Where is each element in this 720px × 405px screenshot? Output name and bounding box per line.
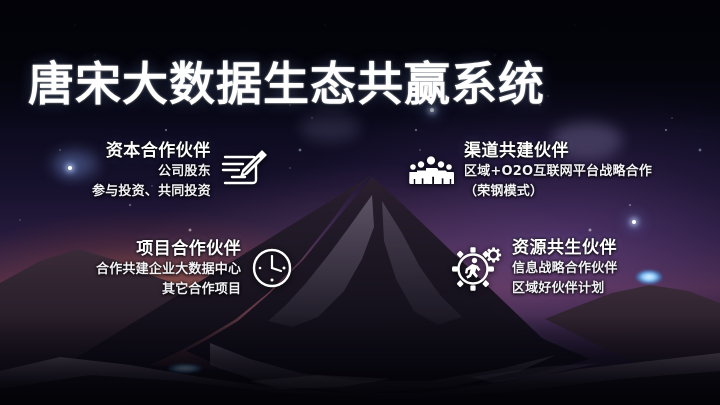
partner-detail-line: 其它合作项目 [162, 280, 241, 299]
partner-text-group: 项目合作伙伴 合作共建企业大数据中心 其它合作项目 [96, 238, 241, 299]
partner-detail-line: 区域好伙伴计划 [512, 279, 604, 298]
partner-block-channel[interactable]: 渠道共建伙伴 区域+O2O互联网平台战略合作 （荣钢模式） [408, 140, 652, 201]
partner-detail-line: 合作共建企业大数据中心 [96, 260, 241, 279]
partner-detail-line: 公司股东 [158, 162, 211, 181]
gear-person-icon [452, 243, 502, 291]
partner-detail-line: 区域+O2O互联网平台战略合作 [464, 162, 652, 181]
partner-title: 资源共生伙伴 [512, 237, 617, 259]
people-group-icon [408, 153, 454, 187]
presentation-slide: 唐宋大数据生态共赢系统 资本合作伙伴 公司股东 参与投资、共同投资 [0, 0, 720, 405]
partner-detail-line: （荣钢模式） [464, 182, 543, 201]
partner-text-group: 资源共生伙伴 信息战略合作伙伴 区域好伙伴计划 [512, 237, 618, 298]
partner-detail-line: 参与投资、共同投资 [92, 182, 211, 201]
contract-signing-icon [221, 148, 267, 192]
clock-icon [251, 247, 293, 289]
valley-light-glow [168, 364, 202, 373]
partner-text-group: 渠道共建伙伴 区域+O2O互联网平台战略合作 （荣钢模式） [464, 140, 652, 201]
partner-block-capital[interactable]: 资本合作伙伴 公司股东 参与投资、共同投资 [92, 140, 267, 201]
partner-title: 渠道共建伙伴 [464, 140, 569, 162]
partner-title: 资本合作伙伴 [106, 140, 211, 162]
partner-title: 项目合作伙伴 [136, 238, 241, 260]
bright-star-left [68, 166, 72, 170]
partner-detail-line: 信息战略合作伙伴 [512, 259, 618, 278]
page-title: 唐宋大数据生态共赢系统 [28, 57, 545, 111]
partner-block-project[interactable]: 项目合作伙伴 合作共建企业大数据中心 其它合作项目 [96, 238, 293, 299]
partner-text-group: 资本合作伙伴 公司股东 参与投资、共同投资 [92, 140, 211, 201]
ridge-light-glow [636, 270, 662, 284]
partner-block-resource[interactable]: 资源共生伙伴 信息战略合作伙伴 区域好伙伴计划 [452, 237, 618, 298]
